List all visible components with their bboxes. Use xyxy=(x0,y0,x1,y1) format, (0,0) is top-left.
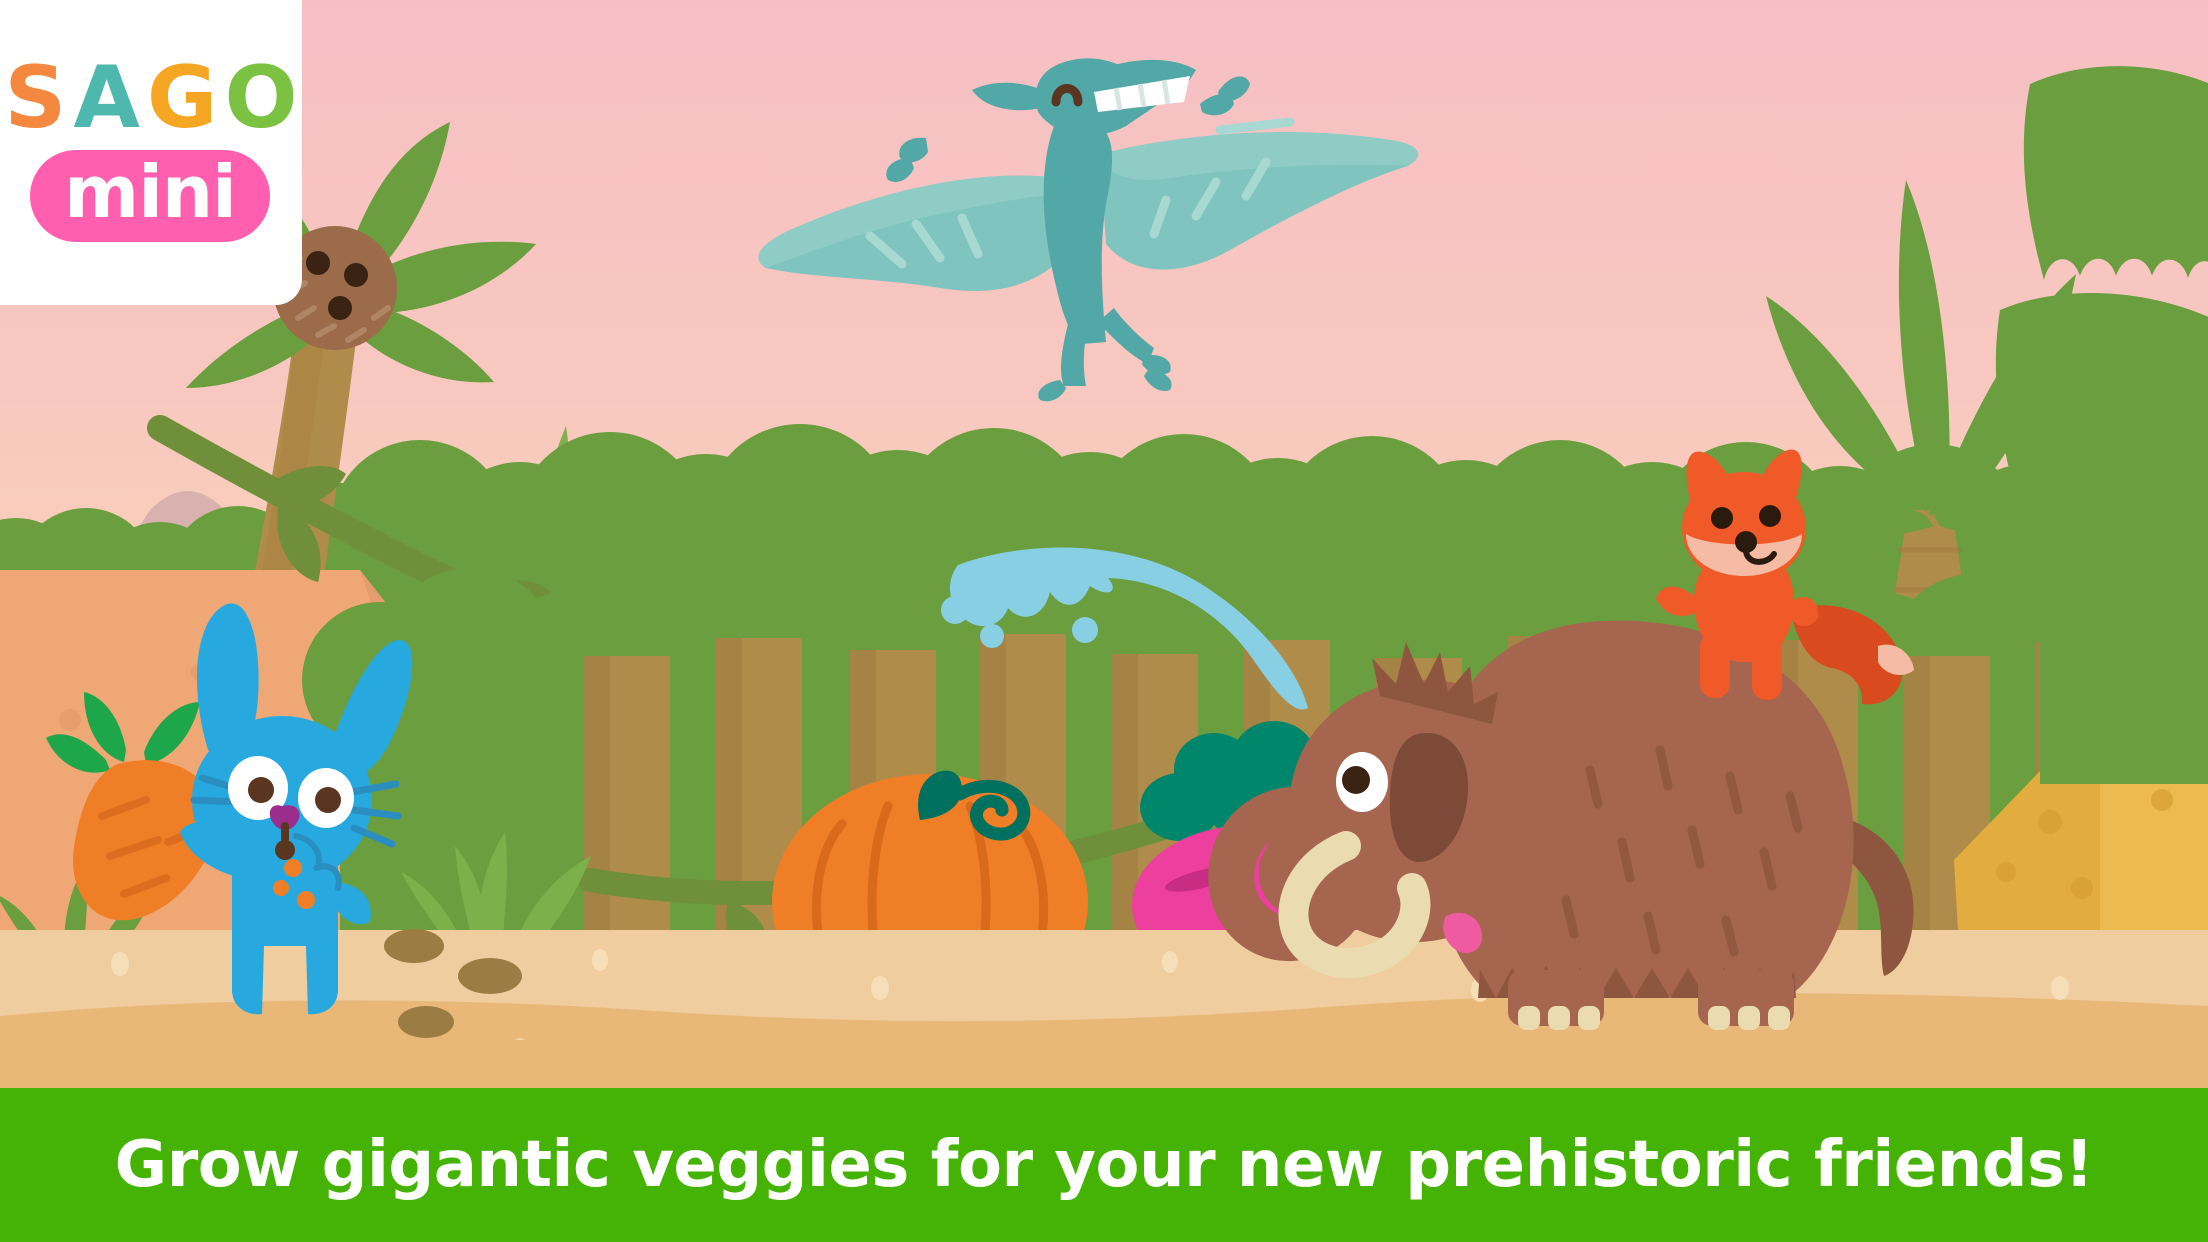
sago-letter-a: A xyxy=(73,61,138,137)
foreground-bush-right xyxy=(2040,520,2208,780)
promo-banner: Grow gigantic veggies for your new prehi… xyxy=(0,1088,2208,1242)
pterodactyl-character xyxy=(730,30,1430,390)
fox-character xyxy=(1620,450,1920,750)
sago-letter-o: O xyxy=(225,61,296,137)
mini-pill: mini xyxy=(30,150,270,242)
bunny-character xyxy=(130,600,460,1020)
sago-letter-s: S xyxy=(4,61,64,137)
sago-mini-logo-card[interactable]: S A G O mini xyxy=(0,0,302,305)
sago-wordmark: S A G O xyxy=(4,61,295,137)
sago-letter-g: G xyxy=(147,61,216,137)
mini-wordmark: mini xyxy=(64,156,236,228)
promo-screenshot: Grow gigantic veggies for your new prehi… xyxy=(0,0,2208,1242)
ground-bottom-band xyxy=(0,1040,2208,1090)
promo-banner-text: Grow gigantic veggies for your new prehi… xyxy=(115,1128,2094,1202)
